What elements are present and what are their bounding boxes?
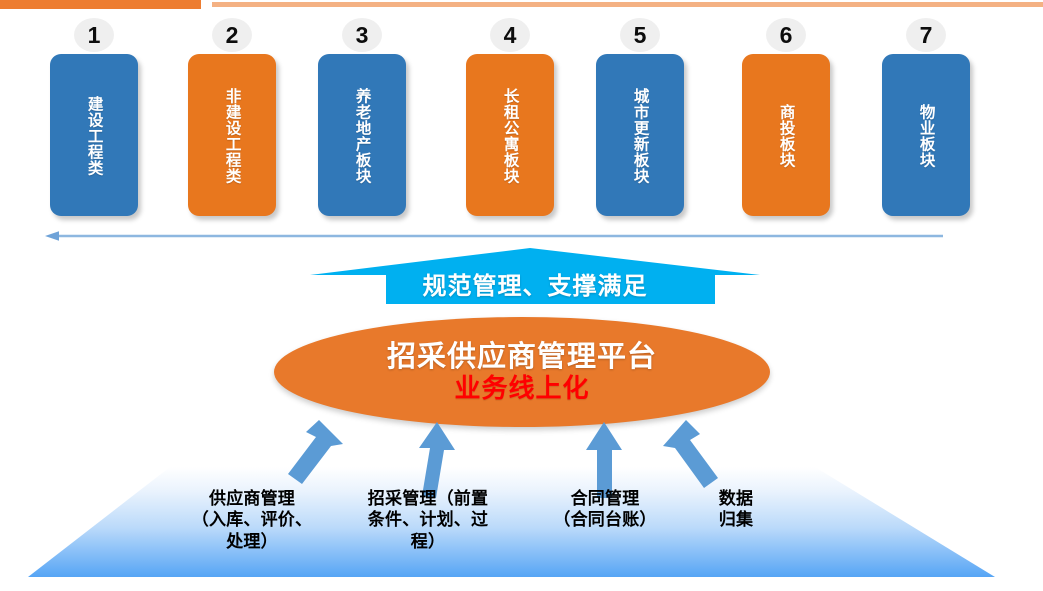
segment-sweep-arrow-icon [45,230,945,242]
segment-box-3[interactable]: 养老地产板块 [318,54,406,216]
segment-card-4[interactable]: 4 长租公寓板块 [464,18,556,216]
segment-card-3[interactable]: 3 养老地产板块 [316,18,408,216]
capability-label-2-line3: 程） [344,531,512,552]
segment-box-1[interactable]: 建设工程类 [50,54,138,216]
segment-card-2[interactable]: 2 非建设工程类 [186,18,278,216]
segment-label-5: 城市更新板块 [631,88,648,184]
capability-label-1-line3: 处理） [172,531,332,552]
segment-number-7: 7 [920,24,933,47]
top-accent-bar-left [0,0,201,9]
segment-card-5[interactable]: 5 城市更新板块 [594,18,686,216]
segment-card-6[interactable]: 6 商投板块 [740,18,832,216]
capability-label-1-line1: 供应商管理 [172,488,332,509]
segment-label-7: 物业板块 [917,104,934,168]
foundation-label-group: 供应商管理 （入库、评价、 处理） 招采管理（前置 条件、计划、过 程） 合同管… [0,488,1043,588]
segment-box-4[interactable]: 长租公寓板块 [466,54,554,216]
segment-number-badge-1: 1 [74,18,114,52]
segment-label-6: 商投板块 [777,104,794,168]
segment-card-7[interactable]: 7 物业板块 [880,18,972,216]
governance-banner: 规范管理、支撑满足 [300,248,770,304]
capability-label-2: 招采管理（前置 条件、计划、过 程） [344,488,512,552]
segment-card-1[interactable]: 1 建设工程类 [48,18,140,216]
capability-arrow-icon-3 [586,422,622,498]
capability-label-3-line2: （合同台账） [535,509,675,530]
top-accent-bar-right [212,2,1043,7]
capability-label-3-line1: 合同管理 [535,488,675,509]
slide-canvas: 1 建设工程类 2 非建设工程类 3 养老地产板块 4 [0,0,1043,591]
segment-number-5: 5 [634,24,647,47]
segment-number-badge-3: 3 [342,18,382,52]
segment-number-2: 2 [226,24,239,47]
segment-box-7[interactable]: 物业板块 [882,54,970,216]
capability-arrow-icon-2 [419,422,455,498]
capability-label-1: 供应商管理 （入库、评价、 处理） [172,488,332,552]
segment-number-badge-6: 6 [766,18,806,52]
segment-number-4: 4 [504,24,517,47]
governance-banner-label: 规范管理、支撑满足 [300,248,770,304]
capability-label-2-line2: 条件、计划、过 [344,509,512,530]
platform-subtitle: 业务线上化 [454,374,589,403]
capability-label-3: 合同管理 （合同台账） [535,488,675,531]
capability-arrow-icon-4 [663,420,718,488]
segment-label-2: 非建设工程类 [223,88,240,184]
segment-number-badge-5: 5 [620,18,660,52]
segment-box-5[interactable]: 城市更新板块 [596,54,684,216]
capability-label-1-line2: （入库、评价、 [172,509,332,530]
segment-label-1: 建设工程类 [85,96,102,176]
capability-label-4-line1: 数据 [694,488,778,509]
segment-label-3: 养老地产板块 [353,88,370,184]
segment-number-1: 1 [88,24,101,47]
platform-title: 招采供应商管理平台 [387,341,657,373]
segment-number-badge-7: 7 [906,18,946,52]
business-segment-row: 1 建设工程类 2 非建设工程类 3 养老地产板块 4 [0,18,1043,218]
capability-arrow-icon-1 [288,420,343,484]
segment-number-badge-4: 4 [490,18,530,52]
segment-number-3: 3 [356,24,369,47]
segment-box-6[interactable]: 商投板块 [742,54,830,216]
segment-number-badge-2: 2 [212,18,252,52]
segment-box-2[interactable]: 非建设工程类 [188,54,276,216]
capability-label-4-line2: 归集 [694,509,778,530]
capability-label-4: 数据 归集 [694,488,778,531]
capability-label-2-line1: 招采管理（前置 [344,488,512,509]
segment-label-4: 长租公寓板块 [501,88,518,184]
segment-number-6: 6 [780,24,793,47]
